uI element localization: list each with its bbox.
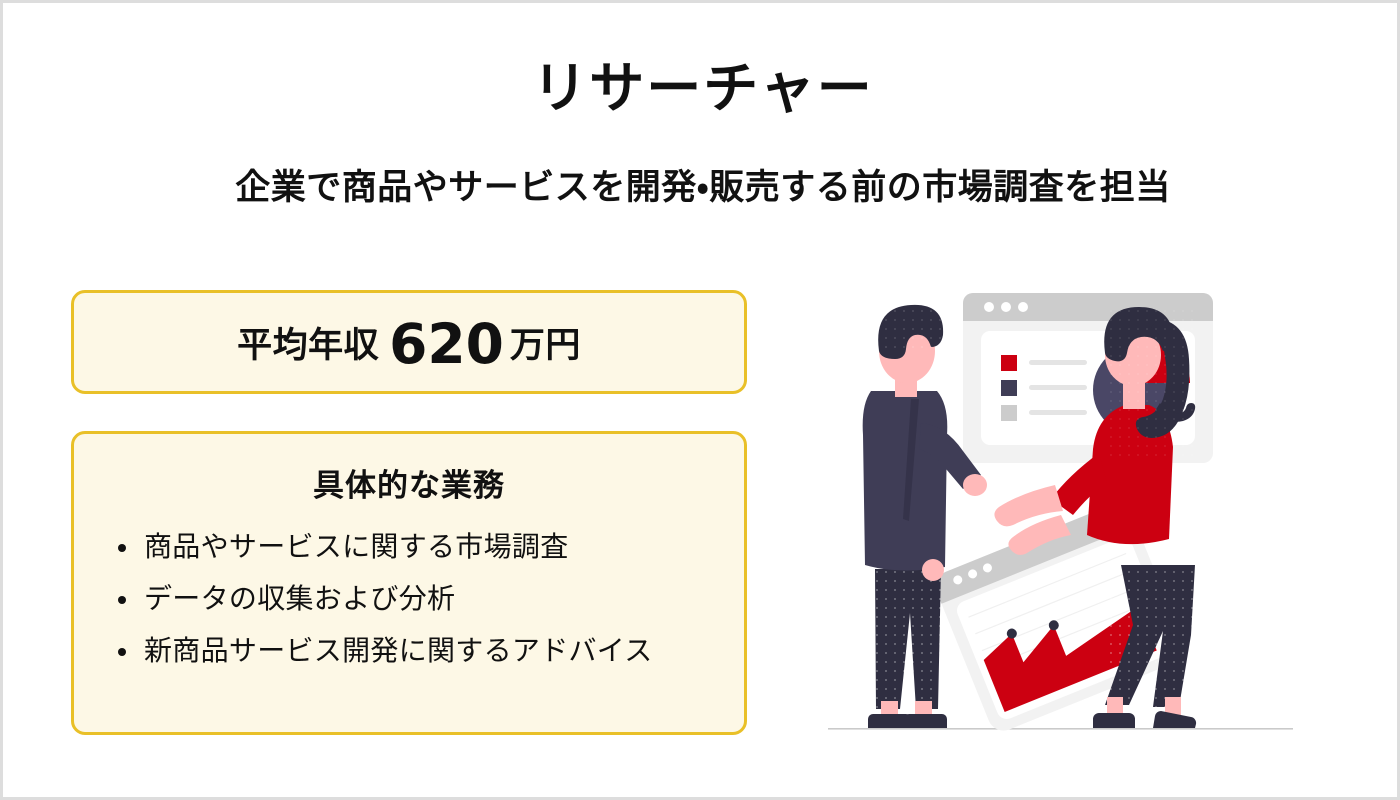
man-jacket: [863, 391, 948, 571]
ground-line: [828, 728, 1293, 730]
window-dot-icon: [1018, 302, 1028, 312]
duty-text: データの収集および分析: [144, 582, 455, 615]
woman-hair-texture: [1103, 307, 1197, 457]
average-salary-label: 平均年収: [237, 317, 379, 368]
window-dot-icon: [984, 302, 994, 312]
bullet-icon: [118, 648, 126, 656]
list-item: データの収集および分析: [116, 583, 744, 615]
legend-swatch-red: [1001, 355, 1017, 371]
duty-text: 商品やサービスに関する市場調査: [144, 530, 569, 563]
legend-swatch-navy: [1001, 380, 1017, 396]
man-hand: [922, 559, 944, 581]
illustration-two-people-with-charts: [803, 273, 1303, 743]
bullet-icon: [118, 544, 126, 552]
legend-line-placeholder: [1029, 360, 1087, 365]
duties-list: 商品やサービスに関する市場調査 データの収集および分析 新商品サービス開発に関す…: [74, 531, 744, 668]
man-hair-texture: [879, 309, 943, 353]
page-title: リサーチャー: [3, 55, 1400, 121]
list-item: 新商品サービス開発に関するアドバイス: [116, 635, 744, 667]
duties-heading: 具体的な業務: [74, 460, 744, 505]
legend-line-placeholder: [1029, 385, 1087, 390]
infographic-page: リサーチャー 企業で商品やサービスを開発・販売する前の市場調査を担当 平均年収 …: [0, 0, 1400, 800]
list-item: 商品やサービスに関する市場調査: [116, 531, 744, 563]
average-salary-line: 平均年収 620 万円: [74, 293, 744, 391]
average-salary-value: 620: [389, 312, 504, 376]
woman-shoe: [1093, 713, 1135, 728]
legend-line-placeholder: [1029, 410, 1087, 415]
average-salary-card: 平均年収 620 万円: [71, 290, 747, 394]
window-dot-icon: [1001, 302, 1011, 312]
man-hand: [963, 474, 987, 496]
page-subtitle: 企業で商品やサービスを開発・販売する前の市場調査を担当: [3, 167, 1400, 211]
average-salary-unit: 万円: [510, 317, 581, 368]
bullet-icon: [118, 596, 126, 604]
man-trousers-texture: [875, 569, 941, 709]
woman-trousers-texture: [1103, 565, 1197, 711]
duties-card: 具体的な業務 商品やサービスに関する市場調査 データの収集および分析 新商品サー…: [71, 431, 747, 735]
duty-text: 新商品サービス開発に関するアドバイス: [144, 634, 653, 667]
man-shoe: [904, 714, 947, 728]
legend-swatch-gray: [1001, 405, 1017, 421]
